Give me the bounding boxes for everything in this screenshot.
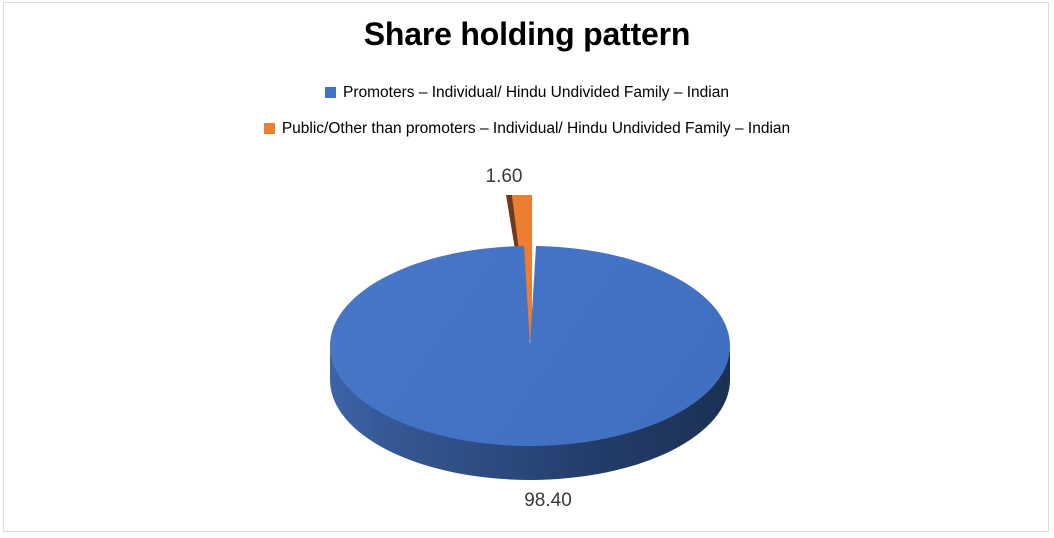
chart-title: Share holding pattern	[0, 16, 1054, 53]
legend-label-public: Public/Other than promoters – Individual…	[282, 118, 790, 140]
data-label-public: 1.60	[0, 166, 1031, 188]
data-label-promoters: 98.40	[21, 490, 1054, 512]
chart-container: Share holding pattern Promoters – Indivi…	[0, 0, 1054, 538]
pie-chart-graphic	[0, 150, 1054, 538]
legend-swatch-blue-icon	[325, 87, 336, 98]
pie-plot-area: 1.60 98.40	[0, 150, 1054, 538]
chart-legend: Promoters – Individual/ Hindu Undivided …	[0, 82, 1054, 154]
legend-item-public[interactable]: Public/Other than promoters – Individual…	[0, 118, 1054, 140]
legend-swatch-orange-icon	[264, 123, 275, 134]
legend-item-promoters[interactable]: Promoters – Individual/ Hindu Undivided …	[0, 82, 1054, 104]
legend-label-promoters: Promoters – Individual/ Hindu Undivided …	[343, 82, 729, 104]
